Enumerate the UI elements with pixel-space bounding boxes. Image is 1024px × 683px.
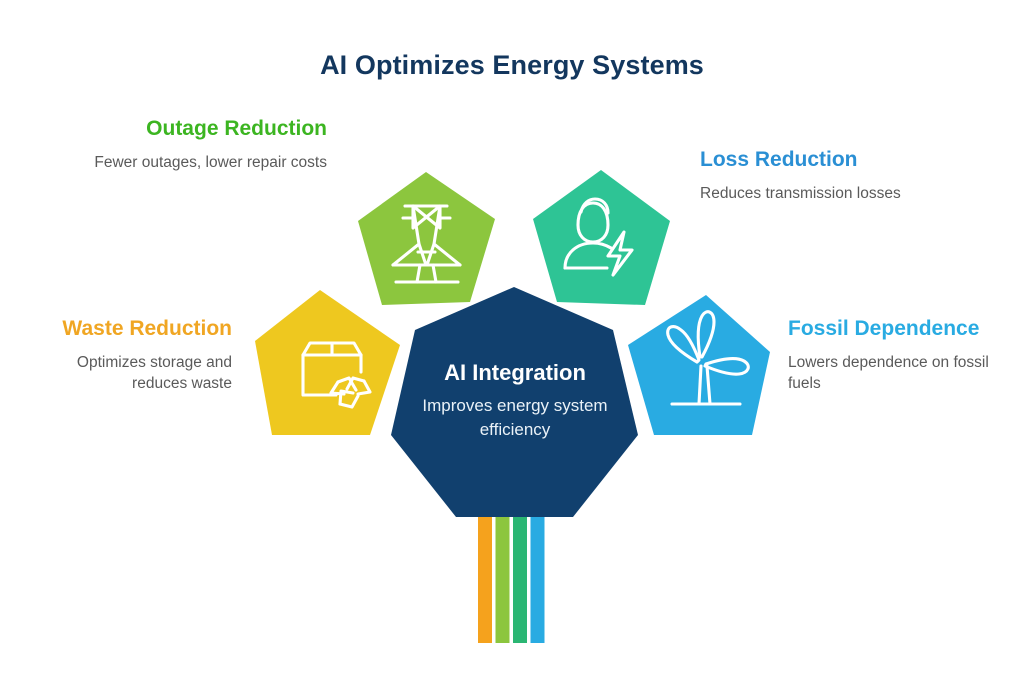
stripe-blue [531,505,545,643]
stripe-teal [513,505,527,643]
label-description-loss-reduction: Reduces transmission losses [700,183,980,204]
label-title-loss-reduction: Loss Reduction [700,145,980,175]
label-block-outage-reduction[interactable]: Outage Reduction Fewer outages, lower re… [40,114,327,173]
label-block-fossil-dependence[interactable]: Fossil Dependence Lowers dependence on f… [788,314,1018,394]
label-block-waste-reduction[interactable]: Waste Reduction Optimizes storage and re… [20,314,232,394]
label-description-outage-reduction: Fewer outages, lower repair costs [40,152,327,173]
heptagon-navy[interactable] [391,287,638,517]
stem-stripes [478,505,545,643]
pentagon-yellow[interactable] [255,290,400,435]
node-shape-waste-reduction[interactable] [255,290,400,435]
label-title-outage-reduction: Outage Reduction [40,114,327,144]
node-shape-loss-reduction[interactable] [533,170,670,305]
infographic-canvas: AI Optimizes Energy Systems [0,0,1024,683]
node-shape-fossil-dependence[interactable] [628,295,770,435]
pentagon-green[interactable] [358,172,495,305]
stripe-orange [478,505,492,643]
label-description-waste-reduction: Optimizes storage and reduces waste [20,352,232,394]
label-title-fossil-dependence: Fossil Dependence [788,314,1018,344]
hub-shape[interactable] [391,287,638,517]
label-title-waste-reduction: Waste Reduction [20,314,232,344]
node-shape-outage-reduction[interactable] [358,172,495,305]
label-block-loss-reduction[interactable]: Loss Reduction Reduces transmission loss… [700,145,980,204]
label-description-fossil-dependence: Lowers dependence on fossil fuels [788,352,1018,394]
stripe-green [496,505,510,643]
